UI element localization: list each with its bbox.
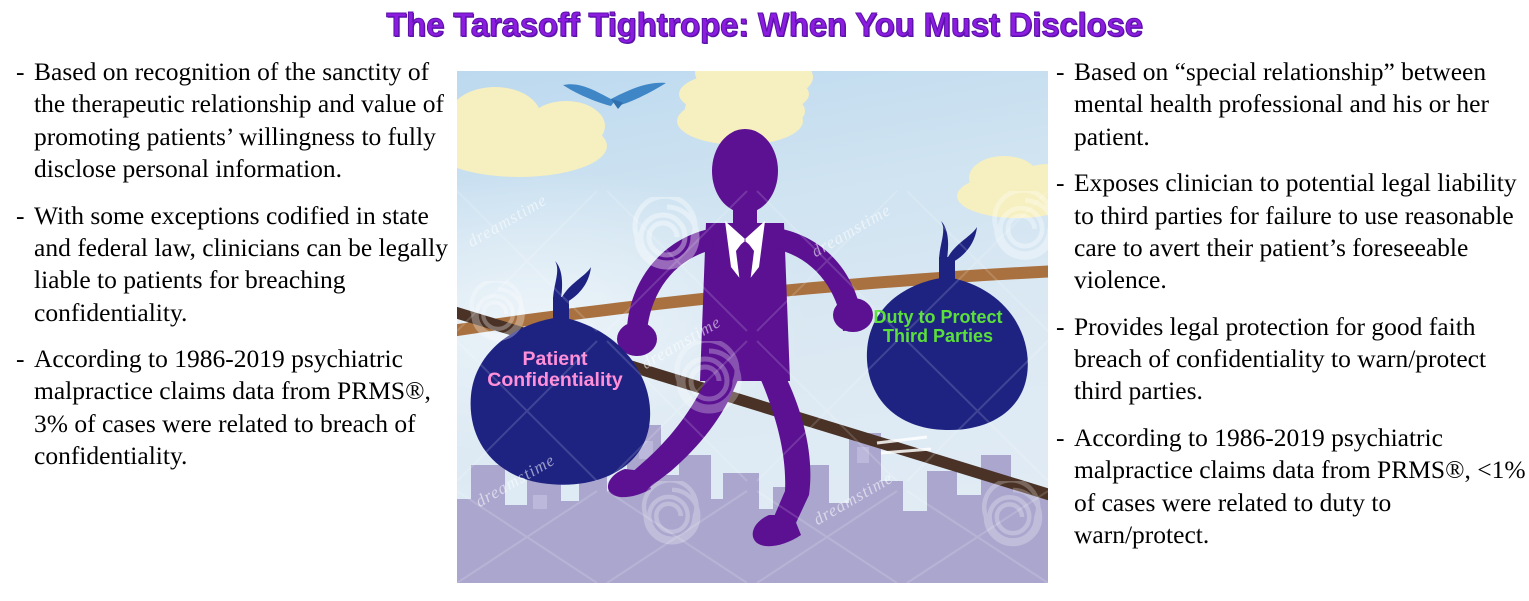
bullet-text: Based on recognition of the sanctity of … [34, 56, 460, 186]
list-item: - With some exceptions codified in state… [8, 200, 460, 330]
list-item: - Based on recognition of the sanctity o… [8, 56, 460, 186]
bullet-marker: - [1048, 56, 1074, 88]
left-bullet-column: - Based on recognition of the sanctity o… [8, 56, 460, 487]
tightrope-walker-illustration: Patient Confidentiality Duty to Protect … [457, 71, 1048, 583]
bullet-text: Exposes clinician to potential legal lia… [1074, 167, 1526, 297]
tightrope-and-figure [457, 71, 1048, 583]
list-item: - Based on “special relationship” betwee… [1048, 56, 1526, 153]
list-item: - According to 1986-2019 psychiatric mal… [8, 343, 460, 473]
bullet-text: According to 1986-2019 psychiatric malpr… [1074, 422, 1526, 552]
bullet-text: Provides legal protection for good faith… [1074, 311, 1526, 408]
bullet-marker: - [1048, 311, 1074, 343]
list-item: - Exposes clinician to potential legal l… [1048, 167, 1526, 297]
bullet-marker: - [8, 56, 34, 88]
bullet-marker: - [8, 343, 34, 375]
bullet-marker: - [1048, 422, 1074, 454]
right-bag [867, 221, 1028, 430]
bullet-marker: - [1048, 167, 1074, 199]
list-item: - Provides legal protection for good fai… [1048, 311, 1526, 408]
bullet-marker: - [8, 200, 34, 232]
bullet-text: With some exceptions codified in state a… [34, 200, 460, 330]
bullet-text: Based on “special relationship” between … [1074, 56, 1526, 153]
page-title: The Tarasoff Tightrope: When You Must Di… [0, 6, 1529, 44]
right-bullet-column: - Based on “special relationship” betwee… [1048, 56, 1526, 565]
bullet-text: According to 1986-2019 psychiatric malpr… [34, 343, 460, 473]
left-bag [471, 261, 651, 485]
list-item: - According to 1986-2019 psychiatric mal… [1048, 422, 1526, 552]
tightrope-walker-figure [608, 129, 873, 546]
